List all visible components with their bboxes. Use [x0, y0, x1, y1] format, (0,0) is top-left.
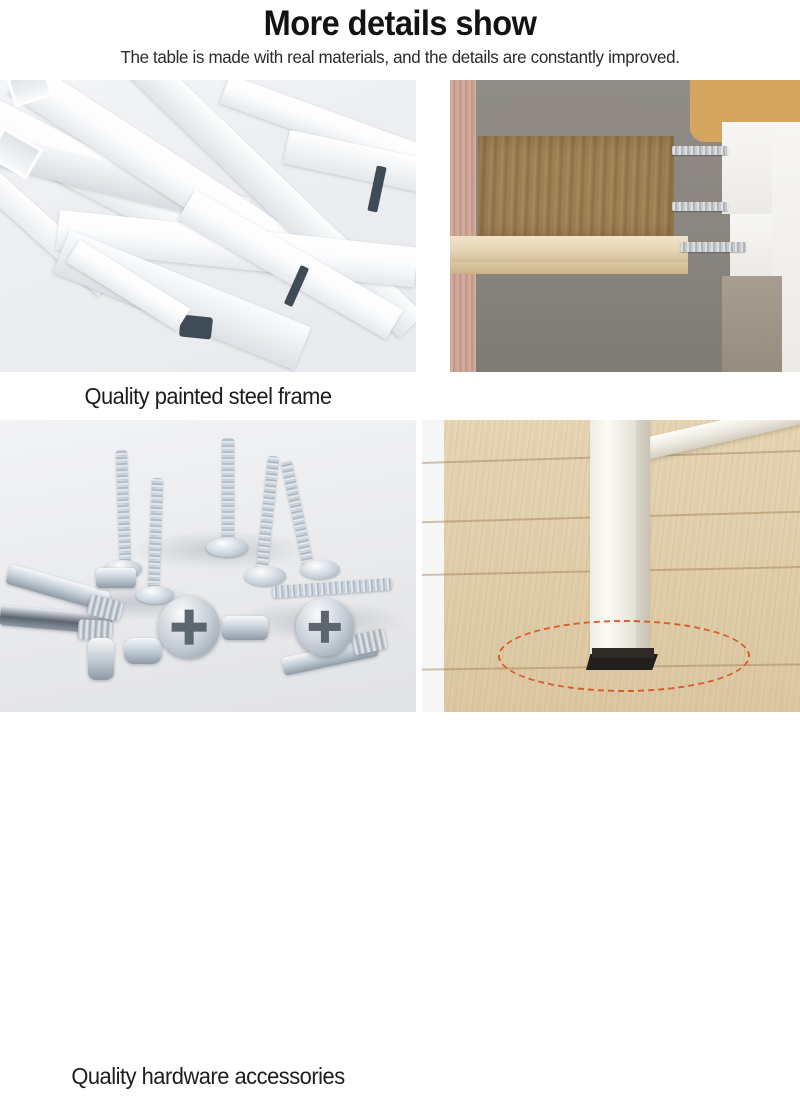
- highlight-ellipse-marker: [498, 620, 750, 692]
- shelf-board: [450, 236, 688, 262]
- detail-grid: Quality painted steel frame: [0, 80, 800, 756]
- dowel-pin: [96, 568, 136, 588]
- dowel-pin: [88, 638, 114, 680]
- photo-foot-pads: [422, 420, 800, 712]
- page-title: More details show: [28, 2, 772, 45]
- cam-lock: [158, 596, 220, 658]
- page-subtitle: The table is made with real materials, a…: [12, 45, 788, 69]
- cam-lock: [296, 598, 354, 656]
- panel-shadow-lower: [722, 276, 782, 372]
- wood-screw-lying: [272, 578, 393, 598]
- dowel-pin: [222, 616, 268, 640]
- panel-foot-pads: Table legs add foot pads: [422, 420, 800, 712]
- panel-painted-steel-frame: Quality painted steel frame: [0, 80, 416, 372]
- wood-screw-shaft: [222, 438, 234, 546]
- wood-screw-head: [136, 586, 174, 604]
- wood-screw-shaft: [116, 450, 131, 570]
- panel-hardware-accessories: Quality hardware accessories: [0, 420, 416, 712]
- photo-painted-steel-frame: [0, 80, 416, 372]
- wood-edge-strip: [450, 80, 476, 372]
- screw-thread-lower: [680, 242, 746, 252]
- screw-thread-top: [672, 146, 728, 155]
- wood-board: [478, 136, 674, 236]
- page-header: More details show The table is made with…: [0, 0, 800, 80]
- caption-hardware-accessories: Quality hardware accessories: [10, 1052, 405, 1100]
- photo-hardware-accessories: [0, 420, 416, 712]
- shelf-board-edge: [450, 262, 688, 274]
- wood-screw-head: [300, 560, 340, 579]
- wood-screw-head: [206, 538, 248, 557]
- left-white-margin: [422, 80, 450, 372]
- screw-thread-middle: [672, 202, 728, 211]
- dowel-pin: [124, 638, 162, 664]
- panel-screw-installation: Screw installation, stable structure: [422, 80, 800, 372]
- photo-screw-installation: [422, 80, 800, 372]
- caption-painted-steel-frame: Quality painted steel frame: [10, 372, 405, 420]
- product-detail-page: More details show The table is made with…: [0, 0, 800, 756]
- wood-screw-head: [244, 566, 286, 586]
- wood-screw-shaft: [148, 478, 163, 596]
